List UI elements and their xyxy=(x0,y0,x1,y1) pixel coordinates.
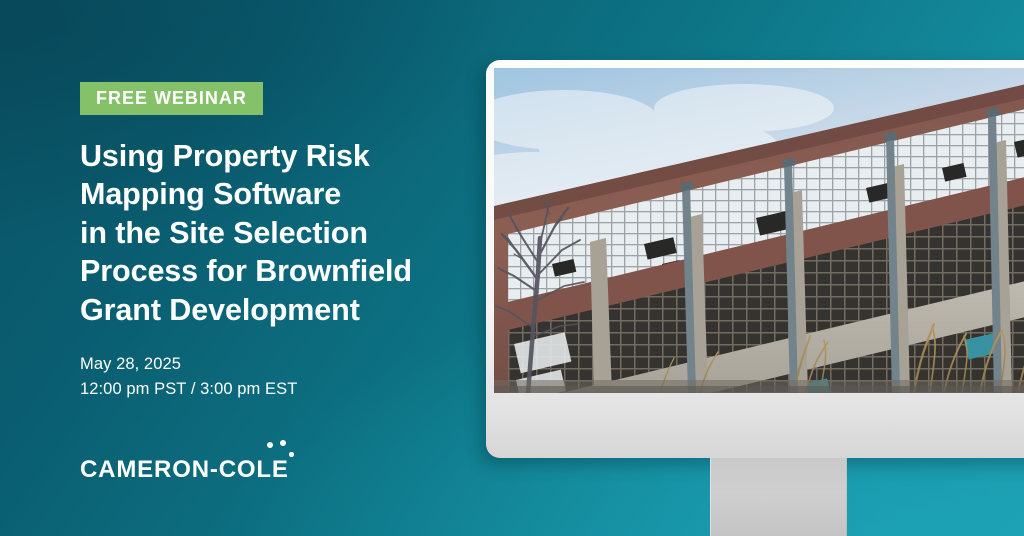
logo-wordmark: CAMERON-COLE xyxy=(80,458,289,482)
monitor-stand xyxy=(710,458,847,536)
desktop-monitor-icon xyxy=(486,60,1024,458)
event-date: May 28, 2025 xyxy=(80,352,297,377)
webinar-promo-banner: FREE WEBINAR Using Property Risk Mapping… xyxy=(0,0,1024,536)
headline-line-4: Process for Brownfield xyxy=(80,252,480,290)
free-webinar-badge: FREE WEBINAR xyxy=(80,82,263,115)
cameron-cole-logo: CAMERON-COLE xyxy=(80,458,289,482)
headline-line-2: Mapping Software xyxy=(80,175,480,213)
headline-line-1: Using Property Risk xyxy=(80,137,480,175)
headline-line-5: Grant Development xyxy=(80,291,480,329)
three-dots-icon xyxy=(267,440,307,466)
headline-line-3: in the Site Selection xyxy=(80,214,480,252)
event-datetime: May 28, 2025 12:00 pm PST / 3:00 pm EST xyxy=(80,352,297,402)
brownfield-building-photo xyxy=(494,68,1024,393)
event-time: 12:00 pm PST / 3:00 pm EST xyxy=(80,377,297,402)
monitor-screen xyxy=(494,68,1024,393)
page-title: Using Property Risk Mapping Software in … xyxy=(80,137,480,329)
